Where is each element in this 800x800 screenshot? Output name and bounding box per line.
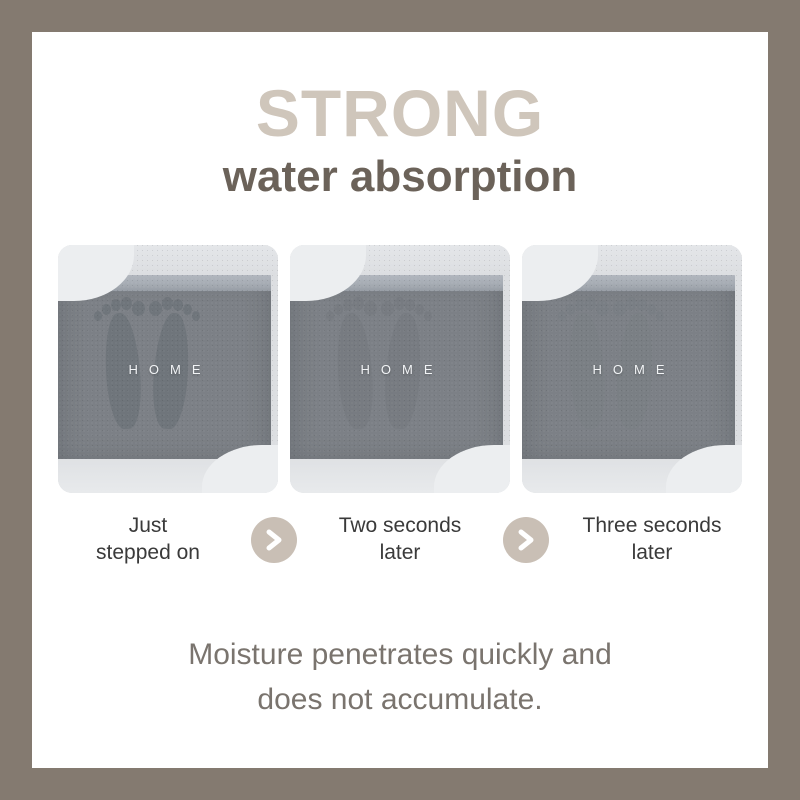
headline-subtitle: water absorption	[32, 154, 768, 200]
outer-border: STRONG water absorption	[0, 0, 800, 800]
chevron-right-icon	[503, 517, 549, 563]
chevron-right-icon	[251, 517, 297, 563]
caption-3-line2: later	[562, 540, 742, 567]
caption-2: Two seconds later	[310, 513, 490, 567]
headline-strong: STRONG	[32, 80, 768, 146]
caption-1-line1: Just	[58, 513, 238, 540]
headline-block: STRONG water absorption	[32, 80, 768, 200]
mat-panel-3: HOME	[522, 245, 742, 493]
mat-label-1: HOME	[58, 275, 271, 463]
caption-3-line1: Three seconds	[562, 513, 742, 540]
caption-1-line2: stepped on	[58, 540, 238, 567]
caption-3: Three seconds later	[562, 513, 742, 567]
caption-2-line1: Two seconds	[310, 513, 490, 540]
mat-label-2: HOME	[290, 275, 503, 463]
mat-panel-2: HOME	[290, 245, 510, 493]
tagline-line2: does not accumulate.	[32, 677, 768, 722]
mat-label-3: HOME	[522, 275, 735, 463]
mat-panel-1: HOME	[58, 245, 278, 493]
tagline-line1: Moisture penetrates quickly and	[32, 632, 768, 677]
poster-canvas: STRONG water absorption	[32, 32, 768, 768]
mat-panel-row: HOME	[58, 245, 742, 493]
tagline-block: Moisture penetrates quickly and does not…	[32, 632, 768, 722]
caption-row: Just stepped on Two seconds later Three …	[58, 502, 742, 578]
caption-2-line2: later	[310, 540, 490, 567]
caption-1: Just stepped on	[58, 513, 238, 567]
